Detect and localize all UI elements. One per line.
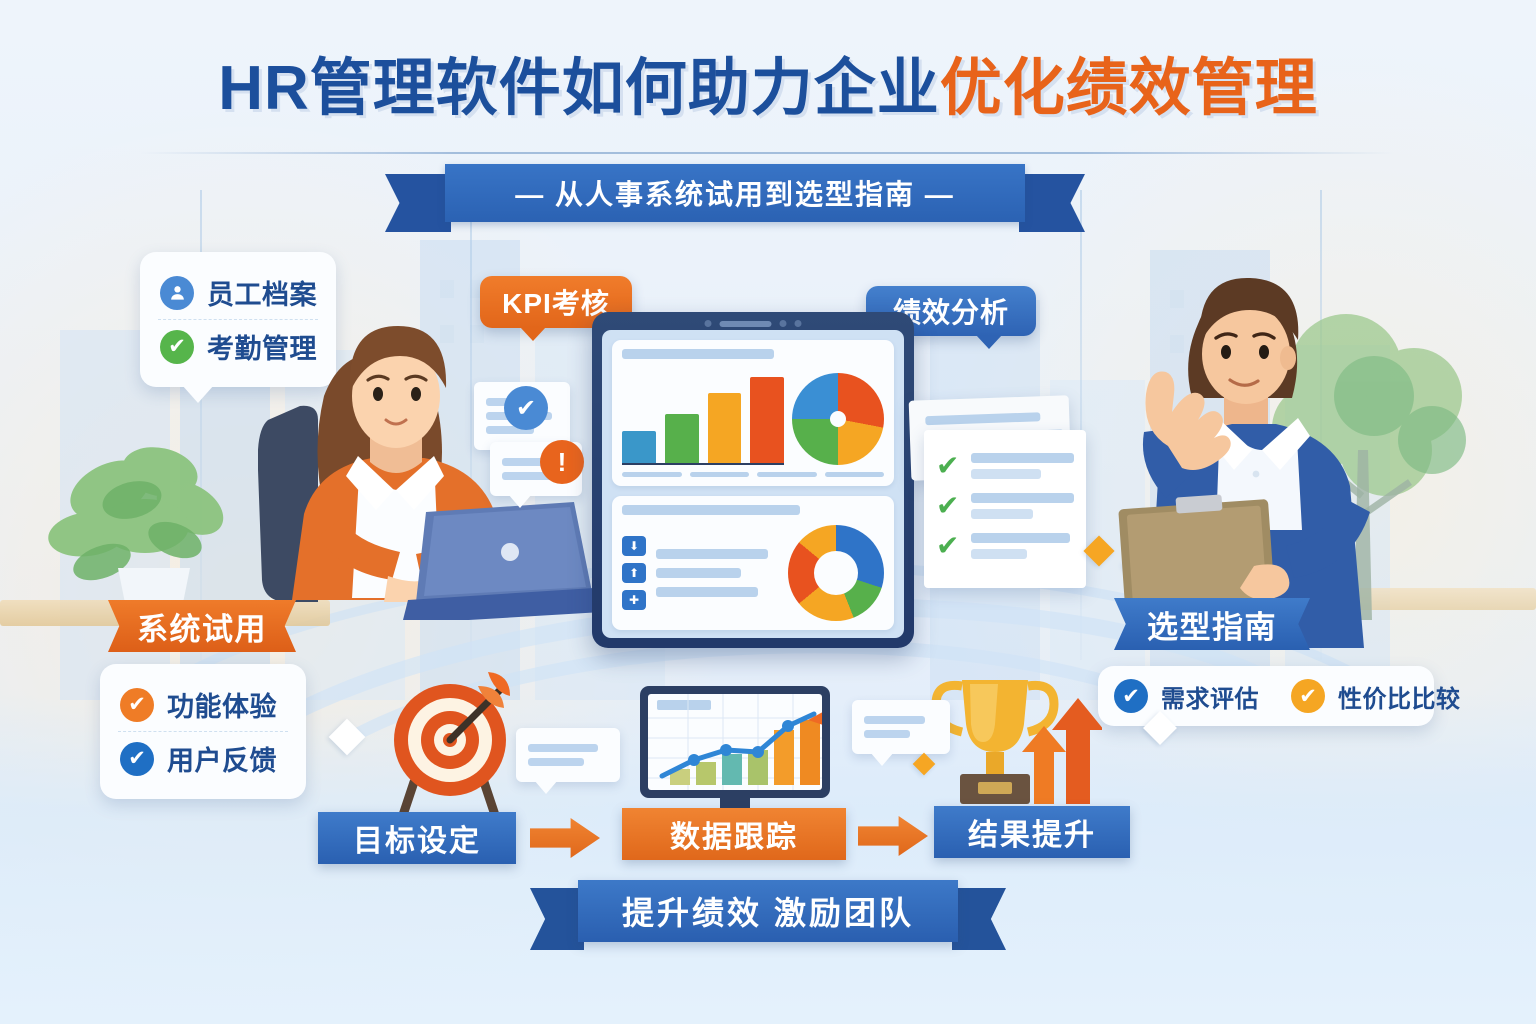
trial-section-card: ✔ 功能体验 ✔ 用户反馈: [100, 664, 306, 799]
panel-action-buttons: ⬇ ⬆ ✚: [622, 536, 646, 610]
list-item[interactable]: ✔ 用户反馈: [118, 731, 288, 785]
process-step-3-label: 结果提升: [968, 810, 1096, 854]
panel-title-placeholder: [622, 505, 800, 515]
title-primary: HR管理软件如何助力企业: [218, 54, 940, 123]
check-icon: ✔: [120, 742, 154, 776]
bottom-banner-label: 提升绩效 激励团队: [578, 880, 958, 942]
selection-section-ribbon-label: 选型指南: [1147, 602, 1277, 647]
check-icon: ✔: [1114, 679, 1148, 713]
trial-section-ribbon[interactable]: 系统试用: [108, 600, 296, 652]
check-icon: ✔: [120, 688, 154, 722]
bar: [750, 377, 784, 463]
banner-tail-right: [952, 888, 1006, 950]
plus-icon[interactable]: ✚: [622, 590, 646, 610]
speaker-grill: [720, 321, 772, 327]
target-icon: [380, 666, 520, 826]
process-step-3[interactable]: 结果提升: [934, 806, 1130, 858]
bottom-banner: 提升绩效 激励团队: [530, 880, 1006, 942]
dashboard-bar-panel: [612, 340, 894, 486]
bar: [665, 414, 699, 463]
panel-title-placeholder: [622, 349, 774, 359]
title-block: HR管理软件如何助力企业优化绩效管理: [0, 56, 1536, 121]
list-item-label: 需求评估: [1161, 679, 1259, 714]
upload-icon[interactable]: ⬆: [622, 563, 646, 583]
list-item[interactable]: ✔ 功能体验: [118, 678, 288, 731]
tablet-device[interactable]: ⬇ ⬆ ✚: [592, 312, 914, 648]
process-step-2[interactable]: 数据跟踪: [622, 808, 846, 860]
list-item-label: 功能体验: [167, 685, 277, 724]
list-item-label: 性价比比较: [1338, 679, 1461, 714]
bar-chart: [622, 369, 884, 465]
check-icon: ✔: [936, 532, 959, 560]
bar: [708, 393, 742, 463]
comment-bubble: [852, 700, 950, 754]
process-step-2-label: 数据跟踪: [670, 812, 798, 856]
monitor-chart-icon: [640, 686, 830, 816]
check-icon: ✔: [160, 330, 194, 364]
bar-axis-labels: [622, 472, 884, 477]
pie-chart: [792, 373, 884, 465]
selection-section-card: ✔ 需求评估 ✔ 性价比比较: [1098, 666, 1434, 726]
list-item-label: 用户反馈: [167, 739, 277, 778]
list-item[interactable]: ✔ 需求评估: [1114, 677, 1259, 716]
check-badge-icon: ✔: [504, 386, 548, 430]
pie-center-hole: [830, 411, 846, 427]
banner-tail-left: [530, 888, 584, 950]
comment-bubble: [516, 728, 620, 782]
dashboard-list-panel: ⬇ ⬆ ✚: [612, 496, 894, 630]
camera-dot: [795, 320, 802, 327]
placeholder-line: [925, 412, 1040, 425]
process-step-1[interactable]: 目标设定: [318, 812, 516, 864]
ribbon-tail-left: [385, 174, 451, 232]
selection-section-ribbon[interactable]: 选型指南: [1114, 598, 1310, 650]
consultant-illustration: [1048, 248, 1388, 648]
tablet-screen: ⬇ ⬆ ✚: [602, 330, 904, 638]
process-step-1-label: 目标设定: [353, 816, 481, 860]
trial-section-ribbon-label: 系统试用: [137, 604, 267, 649]
page-title: HR管理软件如何助力企业优化绩效管理: [0, 56, 1536, 121]
subtitle-ribbon: — 从人事系统试用到选型指南 —: [385, 164, 1085, 222]
tablet-camera-bar: [705, 320, 802, 327]
bar-chart-bars: [622, 369, 784, 465]
ribbon-tail-right: [1019, 174, 1085, 232]
trophy-icon: [926, 668, 1102, 824]
camera-dot: [705, 320, 712, 327]
list-item[interactable]: ✔ 性价比比较: [1291, 677, 1461, 716]
subtitle-text: — 从人事系统试用到选型指南 —: [445, 164, 1025, 222]
bar: [622, 431, 656, 463]
check-icon: ✔: [1291, 679, 1325, 713]
alert-badge-icon: !: [540, 440, 584, 484]
check-icon: ✔: [936, 452, 959, 480]
badge-pointer: [976, 335, 1002, 349]
donut-chart: [788, 525, 884, 621]
download-icon[interactable]: ⬇: [622, 536, 646, 556]
camera-dot: [780, 320, 787, 327]
title-highlight: 优化绩效管理: [940, 54, 1318, 123]
check-icon: ✔: [936, 492, 959, 520]
panel-text-lines: [656, 549, 778, 597]
infographic-poster: HR管理软件如何助力企业优化绩效管理 — 从人事系统试用到选型指南 — 员工档案…: [0, 0, 1536, 1024]
title-divider: [140, 152, 1396, 154]
user-icon: [160, 276, 194, 310]
